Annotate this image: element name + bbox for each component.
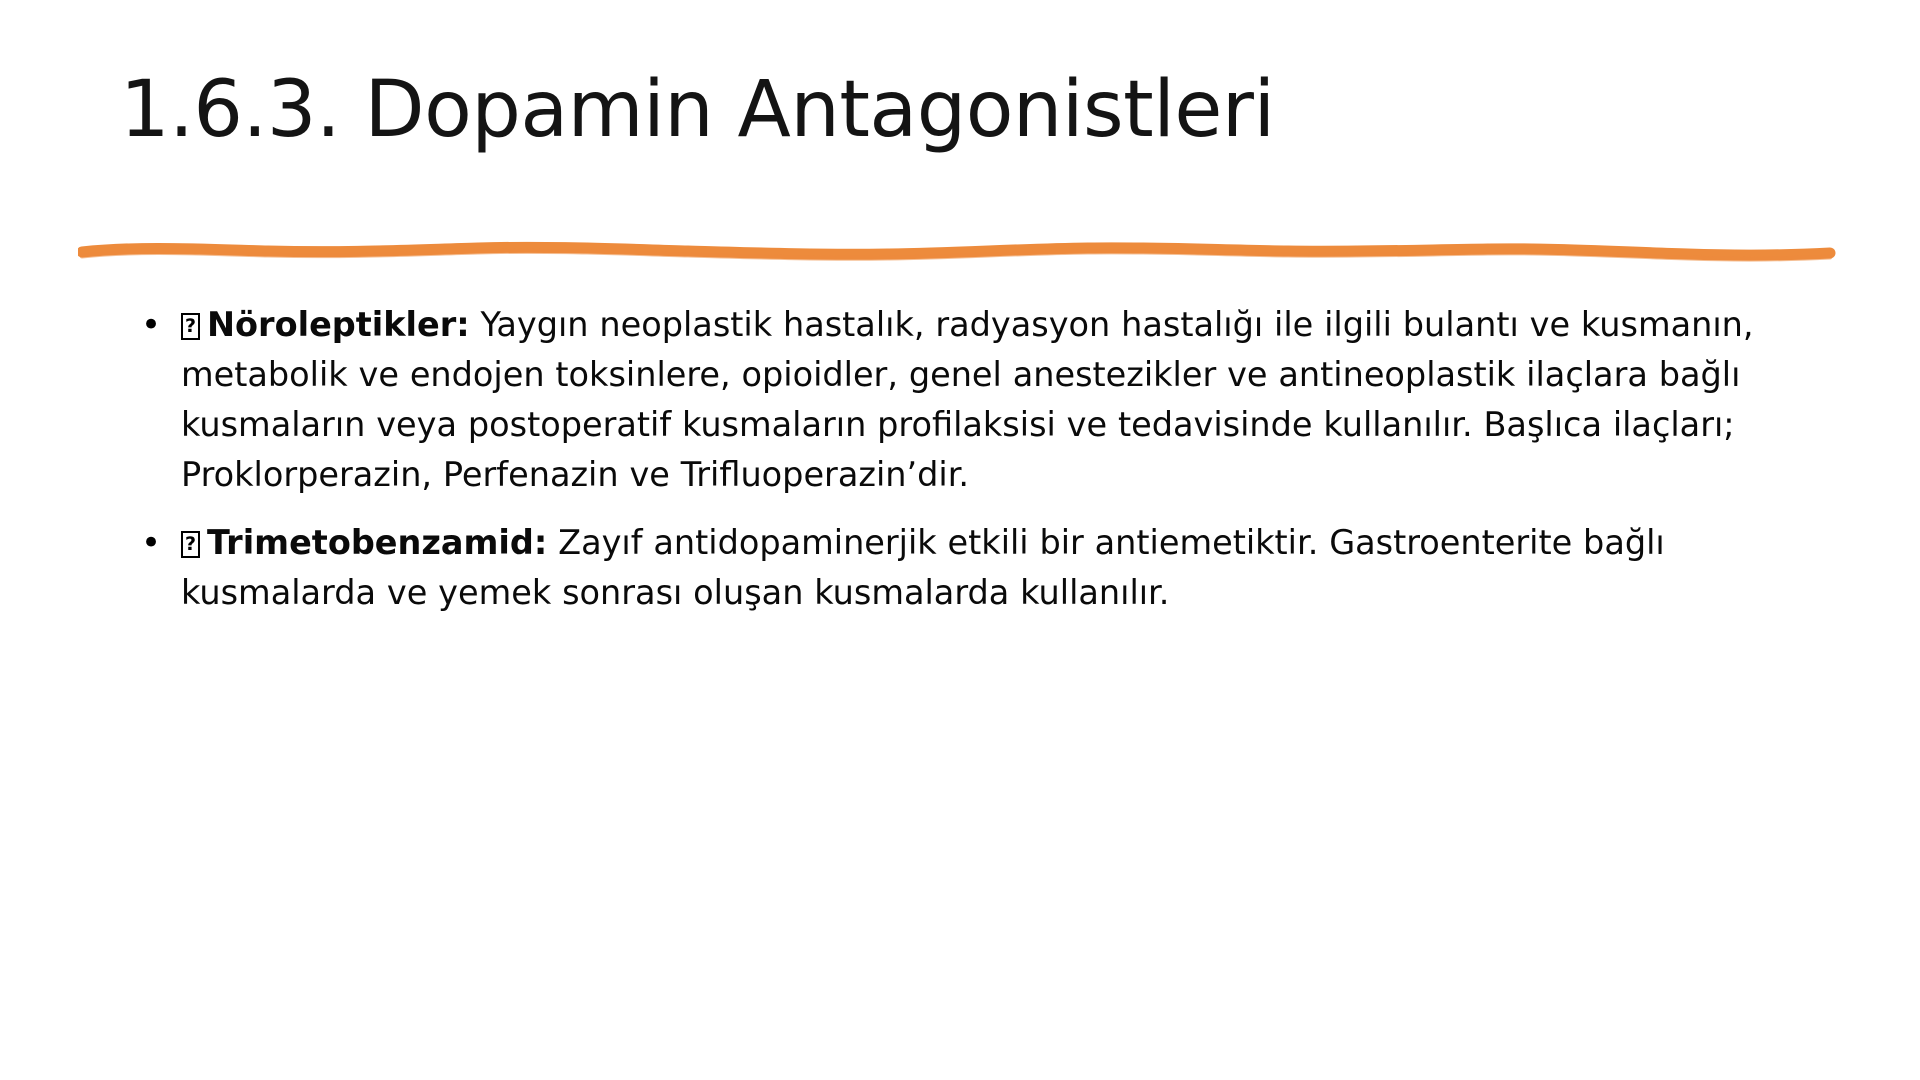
divider-orange-wavy	[78, 232, 1838, 268]
list-item: • Trimetobenzamid: Zayıf antidopaminerji…	[135, 518, 1795, 618]
bullet-marker-icon: •	[135, 518, 181, 568]
content-placeholder: • Nöroleptikler: Yaygın neoplastik hasta…	[135, 300, 1795, 618]
bullet-marker-icon: •	[135, 300, 181, 350]
list-item-text: Nöroleptikler: Yaygın neoplastik hastalı…	[181, 300, 1795, 500]
list-item-text: Trimetobenzamid: Zayıf antidopaminerjik …	[181, 518, 1795, 618]
list-item-term: Trimetobenzamid:	[207, 523, 547, 562]
list-item-term: Nöroleptikler:	[207, 305, 470, 344]
title-placeholder: 1.6.3. Dopamin Antagonistleri	[120, 68, 1820, 152]
missing-glyph-box-icon	[181, 531, 200, 558]
missing-glyph-box-icon	[181, 313, 200, 340]
list-item: • Nöroleptikler: Yaygın neoplastik hasta…	[135, 300, 1795, 500]
wavy-line-icon	[78, 232, 1838, 268]
presentation-slide: 1.6.3. Dopamin Antagonistleri • Nörolept…	[0, 0, 1920, 1080]
page-title: 1.6.3. Dopamin Antagonistleri	[120, 68, 1820, 152]
